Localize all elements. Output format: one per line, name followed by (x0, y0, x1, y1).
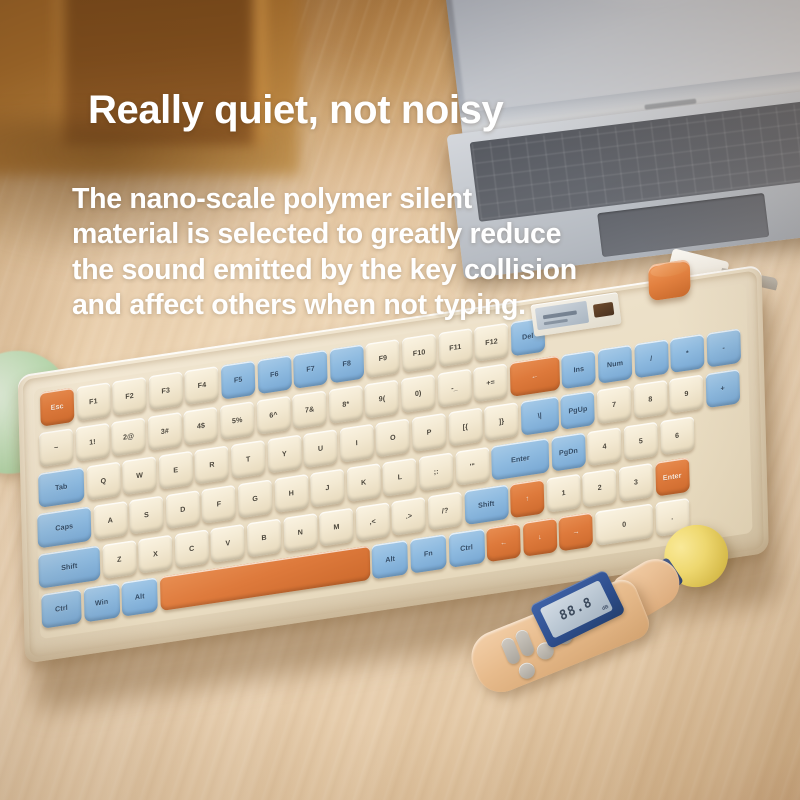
headline: Really quiet, not noisy (88, 88, 503, 133)
body-copy-line-1: The nano-scale polymer silent (72, 182, 692, 217)
text-overlay: Really quiet, not noisy The nano-scale p… (0, 0, 800, 800)
body-copy-line-3: the sound emitted by the key collision (72, 253, 692, 288)
scene-root: EscF1F2F3F4F5F6F7F8F9F10F11F12Del~1!2@3#… (0, 0, 800, 800)
body-copy-line-4: and affect others when not typing. (72, 288, 692, 323)
body-copy-line-2: material is selected to greatly reduce (72, 217, 692, 252)
body-copy: The nano-scale polymer silentmaterial is… (72, 182, 692, 324)
